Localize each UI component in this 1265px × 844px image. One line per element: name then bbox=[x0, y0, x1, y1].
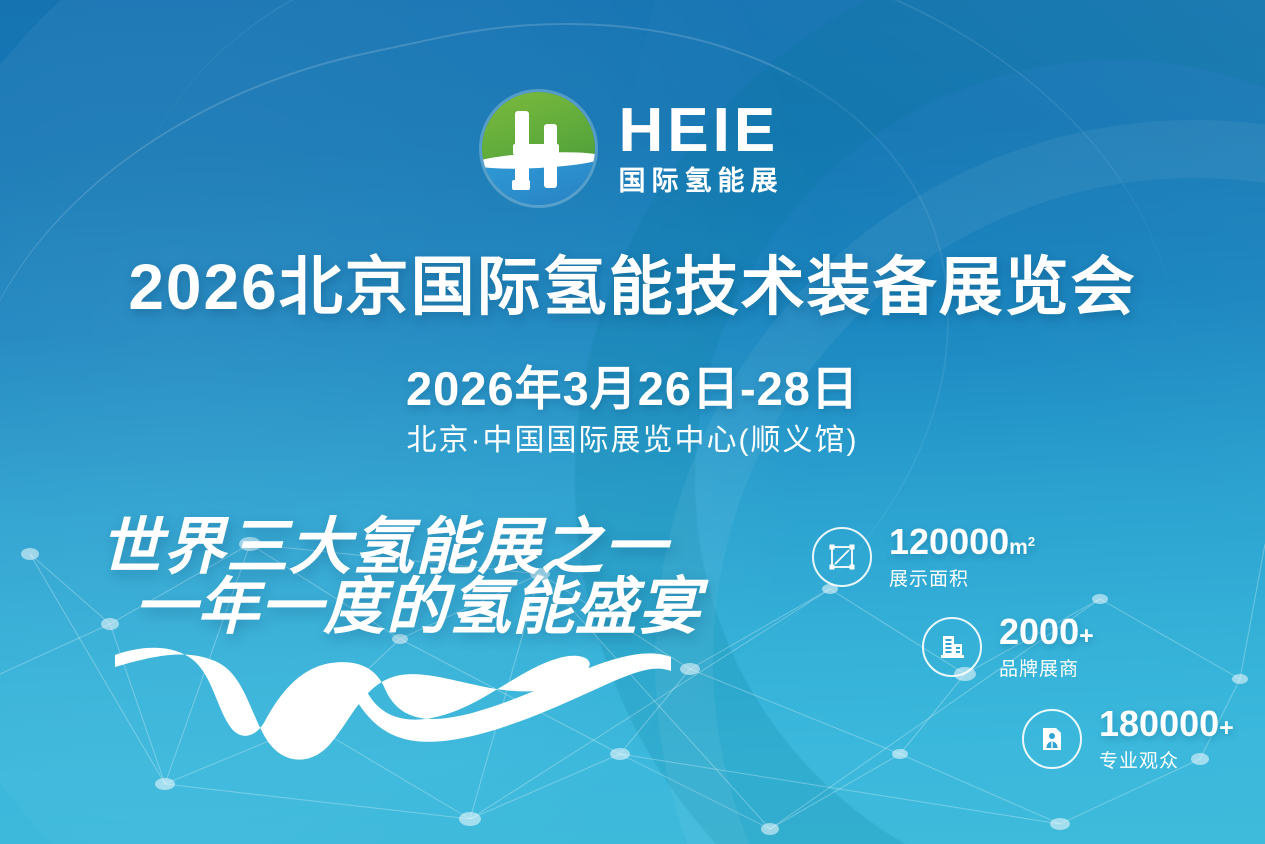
stat-label-area: 展示面积 bbox=[889, 564, 1035, 591]
stat-item-area: 120000m2 展示面积 bbox=[812, 524, 1035, 591]
slogan-line-2: 一年一度的氢能盛宴 bbox=[134, 578, 760, 638]
logo-text-block: HEIE 国际氢能展 bbox=[619, 102, 784, 195]
stat-label-visitors: 专业观众 bbox=[1099, 746, 1234, 773]
page-title: 2026北京国际氢能技术装备展览会 bbox=[0, 236, 1265, 328]
stat-plus-visitors: + bbox=[1219, 714, 1234, 742]
event-venue: 北京·中国国际展览中心(顺义馆) bbox=[0, 415, 1265, 459]
event-date: 2026年3月26日-28日 bbox=[0, 350, 1265, 419]
stat-value-exhibitors: 2000+ bbox=[999, 614, 1094, 651]
stat-plus-exhibitors: + bbox=[1079, 622, 1094, 650]
stat-value-visitors: 180000+ bbox=[1099, 706, 1234, 743]
logo-chinese-name: 国际氢能展 bbox=[619, 168, 784, 195]
stat-number-area: 120000 bbox=[889, 521, 1009, 562]
stat-item-exhibitors: 2000+ 品牌展商 bbox=[922, 614, 1094, 681]
slogan-line-1: 世界三大氢能展之一 bbox=[100, 518, 760, 578]
logo-h-right-stroke bbox=[544, 124, 558, 188]
stat-unit-area: m2 bbox=[1009, 536, 1035, 559]
stat-number-exhibitors: 2000 bbox=[999, 611, 1079, 652]
stat-text-area: 120000m2 展示面积 bbox=[889, 524, 1035, 591]
slogan-block: 世界三大氢能展之一 一年一度的氢能盛宴 bbox=[100, 518, 760, 637]
area-measure-icon bbox=[812, 527, 872, 587]
event-banner: HEIE 国际氢能展 2026北京国际氢能技术装备展览会 2026年3月26日-… bbox=[0, 0, 1265, 844]
stat-number-visitors: 180000 bbox=[1099, 703, 1219, 744]
heie-circle-logo-icon bbox=[482, 92, 595, 205]
logo-wordmark: HEIE bbox=[619, 102, 784, 161]
stat-value-area: 120000m2 bbox=[889, 524, 1035, 561]
white-ribbon-flourish bbox=[115, 645, 675, 775]
logo-h-crossbar bbox=[513, 144, 559, 155]
stat-text-exhibitors: 2000+ 品牌展商 bbox=[999, 614, 1094, 681]
stat-item-visitors: 180000+ 专业观众 bbox=[1022, 706, 1234, 773]
logo-h-foot bbox=[512, 180, 530, 190]
logo-block: HEIE 国际氢能展 bbox=[0, 92, 1265, 205]
building-icon bbox=[922, 617, 982, 677]
visitor-badge-icon bbox=[1022, 709, 1082, 769]
stat-text-visitors: 180000+ 专业观众 bbox=[1099, 706, 1234, 773]
stat-label-exhibitors: 品牌展商 bbox=[999, 654, 1094, 681]
